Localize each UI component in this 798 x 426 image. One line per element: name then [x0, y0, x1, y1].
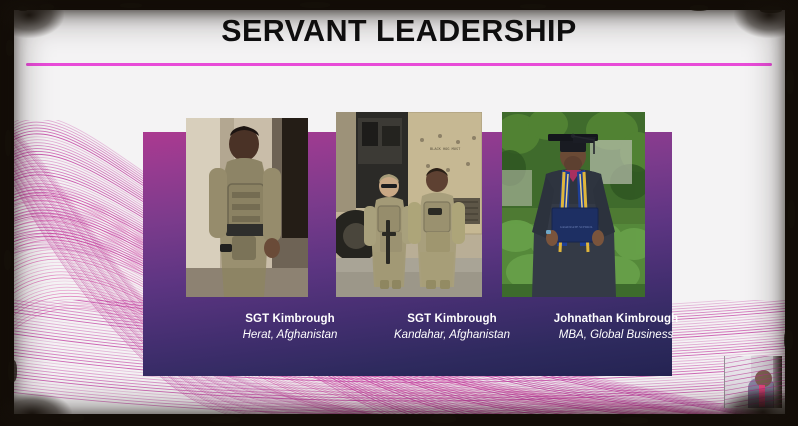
frame-speck — [690, 5, 708, 11]
frame-speck — [520, 4, 546, 9]
caption-person-2: SGT Kimbrough Kandahar, Afghanistan — [367, 312, 537, 343]
page-title: SERVANT LEADERSHIP — [8, 13, 790, 49]
frame-speck — [786, 70, 794, 94]
frame-speck — [760, 6, 782, 13]
person-name: SGT Kimbrough — [367, 312, 537, 326]
frame-speck — [18, 6, 28, 11]
frame-speck — [120, 3, 142, 8]
graduate-in-cap-and-gown-photo: GRADUATE SCHOOL — [502, 112, 645, 297]
presentation-slide: SERVANT LEADERSHIP SGT Kimbrough Herat, … — [0, 0, 798, 426]
two-soldiers-by-military-vehicle-photo: BLACK HOG MUST — [336, 112, 482, 297]
soldier-in-combat-gear-photo — [186, 118, 308, 297]
title-underline-rule — [26, 63, 772, 66]
caption-person-1: SGT Kimbrough Herat, Afghanistan — [205, 312, 375, 343]
frame-speck — [40, 4, 54, 10]
person-detail: Herat, Afghanistan — [205, 328, 375, 343]
person-detail: MBA, Global Business — [531, 328, 701, 343]
person-name: SGT Kimbrough — [205, 312, 375, 326]
frame-speck — [300, 2, 330, 8]
webcam-overlay-lines — [725, 356, 782, 407]
presenter-webcam-thumbnail[interactable] — [724, 356, 782, 408]
svg-text:BLACK HOG MUST: BLACK HOG MUST — [430, 147, 461, 151]
svg-text:GRADUATE SCHOOL: GRADUATE SCHOOL — [560, 225, 593, 229]
person-detail: Kandahar, Afghanistan — [367, 328, 537, 343]
slide-frame-top — [0, 0, 798, 10]
person-name: Johnathan Kimbrough — [531, 312, 701, 326]
caption-person-3: Johnathan Kimbrough MBA, Global Business — [531, 312, 701, 343]
